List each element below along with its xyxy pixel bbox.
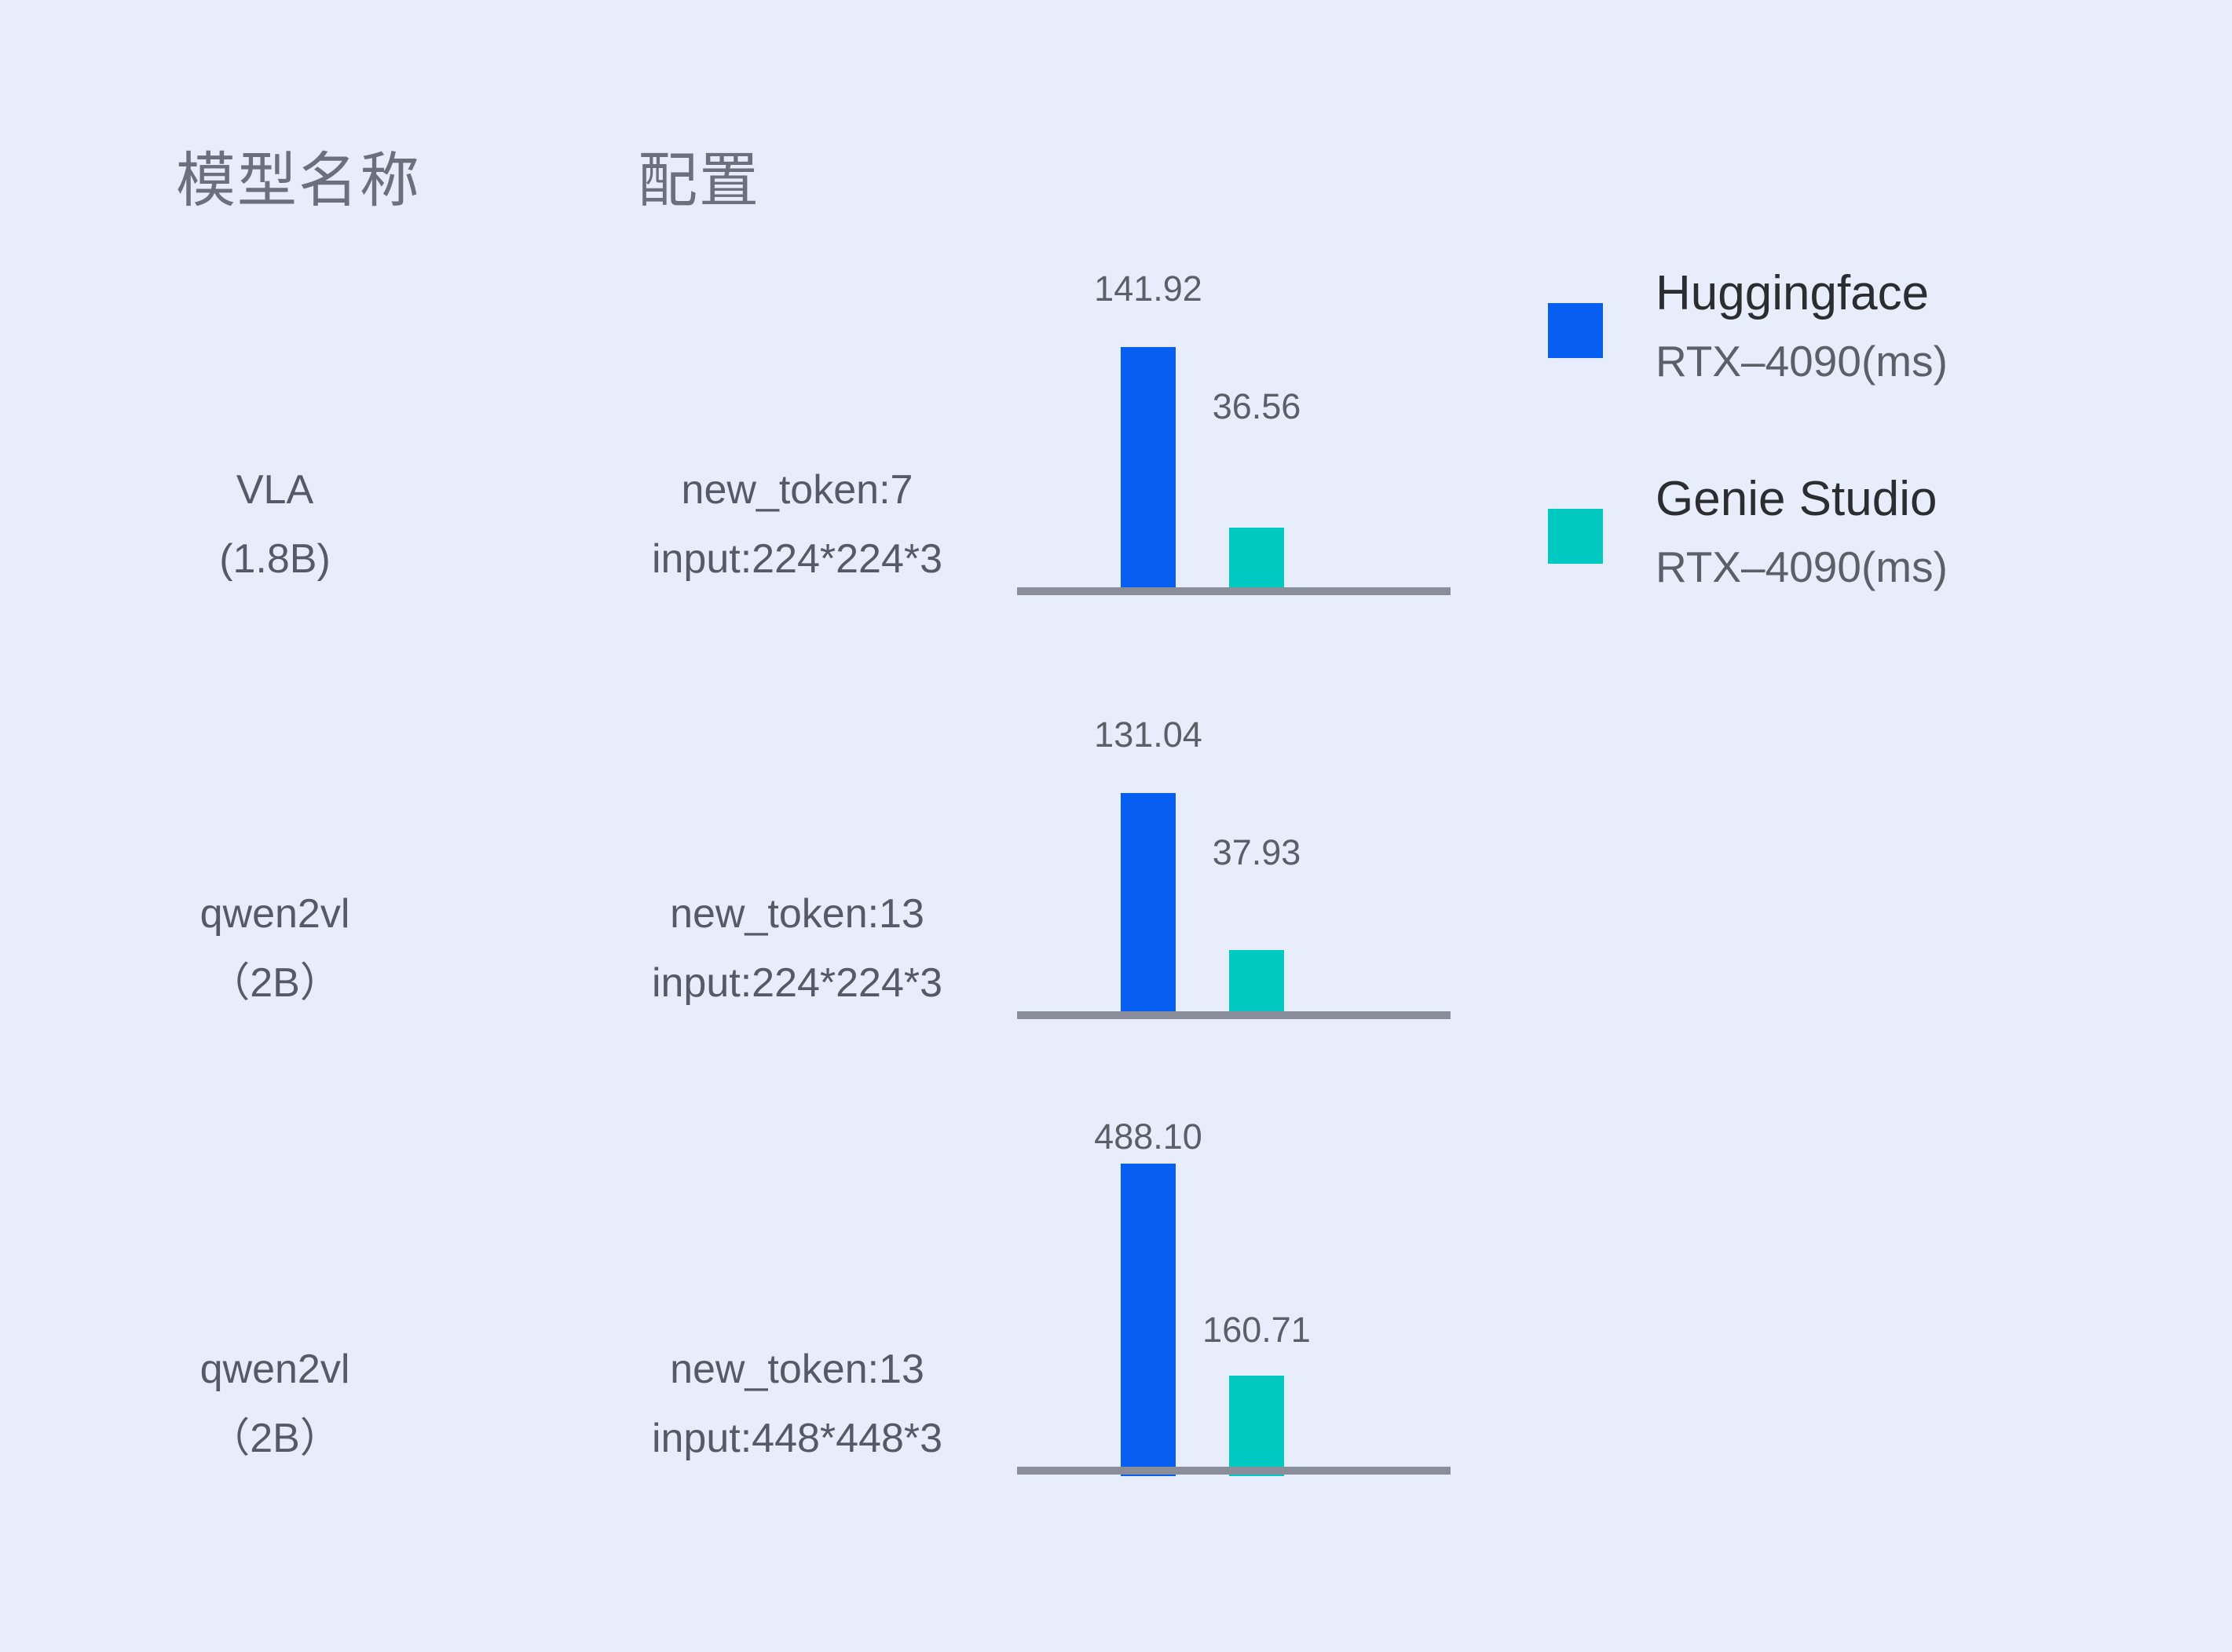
chart-canvas: 模型名称 配置 VLA (1.8B) new_token:7 input:224… (0, 0, 2232, 1652)
axis-baseline (1017, 1011, 1451, 1019)
bar-value-label-huggingface: 488.10 (1046, 1117, 1250, 1157)
model-name-line1: qwen2vl (118, 879, 432, 948)
model-name-line2: (1.8B) (118, 524, 432, 594)
legend-subtitle: RTX–4090(ms) (1656, 336, 1948, 386)
legend-item-huggingface[interactable]: Huggingface RTX–4090(ms) (1543, 236, 2093, 400)
model-name-cell: qwen2vl （2B） (118, 1335, 432, 1473)
legend-title: Genie Studio (1656, 471, 1937, 527)
bar-genie-studio[interactable] (1229, 950, 1284, 1014)
legend-subtitle: RTX–4090(ms) (1656, 542, 1948, 592)
teal-square-icon (1548, 509, 1603, 564)
bar-group: 488.10 160.71 (1017, 1099, 1451, 1476)
bar-panel: 131.04 37.93 (1017, 675, 1451, 1021)
bar-panel: 141.92 36.56 (1017, 251, 1451, 597)
blue-square-icon (1548, 303, 1603, 358)
axis-baseline (1017, 587, 1451, 595)
bar-huggingface[interactable] (1121, 1164, 1176, 1476)
bar-panel: 488.10 160.71 (1017, 1099, 1451, 1476)
bar-huggingface[interactable] (1121, 793, 1176, 1014)
chart-row: qwen2vl （2B） new_token:13 input:224*224*… (0, 675, 2232, 1036)
model-name-cell: qwen2vl （2B） (118, 879, 432, 1018)
bar-value-label-genie-studio: 37.93 (1154, 832, 1359, 873)
model-name-line1: VLA (118, 455, 432, 524)
model-name-line2: （2B） (118, 948, 432, 1018)
bar-genie-studio[interactable] (1229, 528, 1284, 590)
model-name-cell: VLA (1.8B) (118, 455, 432, 594)
bar-group: 131.04 37.93 (1017, 675, 1451, 1014)
bar-value-label-huggingface: 131.04 (1046, 715, 1250, 755)
bar-huggingface[interactable] (1121, 347, 1176, 590)
bar-genie-studio[interactable] (1229, 1376, 1284, 1476)
axis-baseline (1017, 1467, 1451, 1475)
bar-value-label-genie-studio: 36.56 (1154, 386, 1359, 427)
column-header-config: 配置 (638, 132, 760, 218)
legend-item-genie-studio[interactable]: Genie Studio RTX–4090(ms) (1543, 441, 2093, 606)
chart-row: qwen2vl （2B） new_token:13 input:448*448*… (0, 1099, 2232, 1492)
column-header-model-name: 模型名称 (176, 132, 421, 218)
bar-value-label-genie-studio: 160.71 (1154, 1310, 1359, 1350)
bar-value-label-huggingface: 141.92 (1046, 269, 1250, 309)
model-name-line1: qwen2vl (118, 1335, 432, 1404)
model-name-line2: （2B） (118, 1404, 432, 1473)
legend-title: Huggingface (1656, 265, 1929, 321)
bar-group: 141.92 36.56 (1017, 251, 1451, 590)
